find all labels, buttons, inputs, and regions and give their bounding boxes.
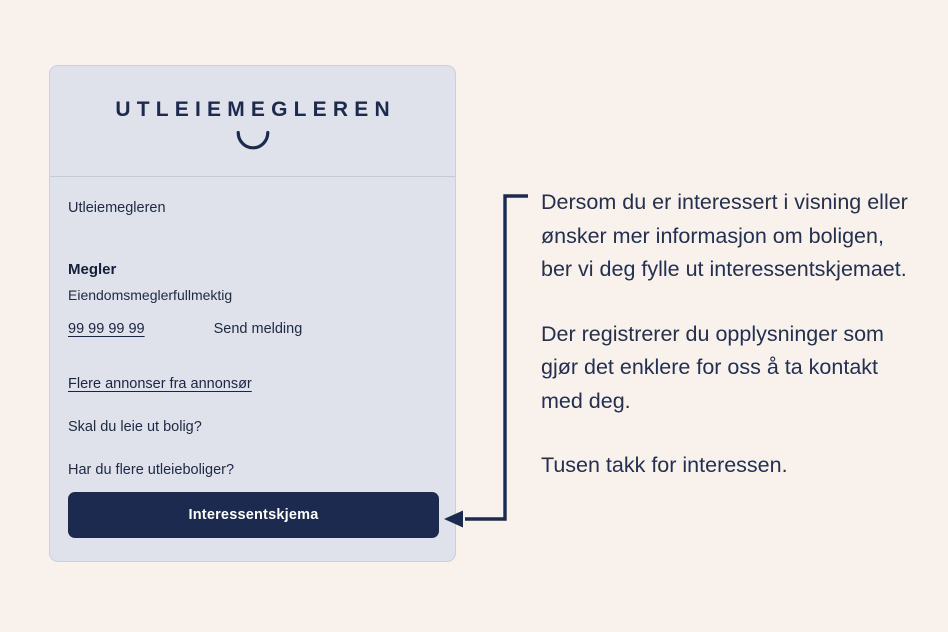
- annotation-paragraph-3: Tusen takk for interessen.: [541, 449, 911, 483]
- broker-phone-link[interactable]: 99 99 99 99: [68, 321, 145, 337]
- broker-name: Megler: [68, 260, 437, 280]
- broker-contact-row: 99 99 99 99 Send melding: [68, 321, 437, 337]
- annotation-callout: Dersom du er interessert i visning eller…: [443, 186, 903, 531]
- annotation-paragraph-1: Dersom du er interessert i visning eller…: [541, 186, 911, 287]
- advertiser-links: Flere annonser fra annonsør Skal du leie…: [68, 376, 437, 478]
- multiple-rentals-link[interactable]: Har du flere utleieboliger?: [68, 462, 437, 478]
- broker-details: Megler Eiendomsmeglerfullmektig 99 99 99…: [68, 260, 437, 337]
- card-body: Utleiemegleren Megler Eiendomsmeglerfull…: [50, 177, 455, 478]
- organisation-name: Utleiemegleren: [68, 199, 437, 218]
- smile-arc-icon: [236, 131, 270, 150]
- card-header: UTLEIEMEGLEREN: [50, 66, 455, 177]
- rent-out-home-link[interactable]: Skal du leie ut bolig?: [68, 419, 437, 435]
- annotation-text-block: Dersom du er interessert i visning eller…: [541, 186, 911, 483]
- send-message-link[interactable]: Send melding: [214, 321, 303, 337]
- utleiemegleren-logo-wordmark: UTLEIEMEGLEREN: [109, 99, 396, 120]
- broker-contact-card: UTLEIEMEGLEREN Utleiemegleren Megler Eie…: [49, 65, 456, 562]
- more-ads-from-advertiser-link[interactable]: Flere annonser fra annonsør: [68, 376, 437, 392]
- interessentskjema-button[interactable]: Interessentskjema: [68, 492, 439, 538]
- annotation-paragraph-2: Der registrerer du opplysninger som gjør…: [541, 318, 911, 419]
- broker-job-title: Eiendomsmeglerfullmektig: [68, 286, 437, 304]
